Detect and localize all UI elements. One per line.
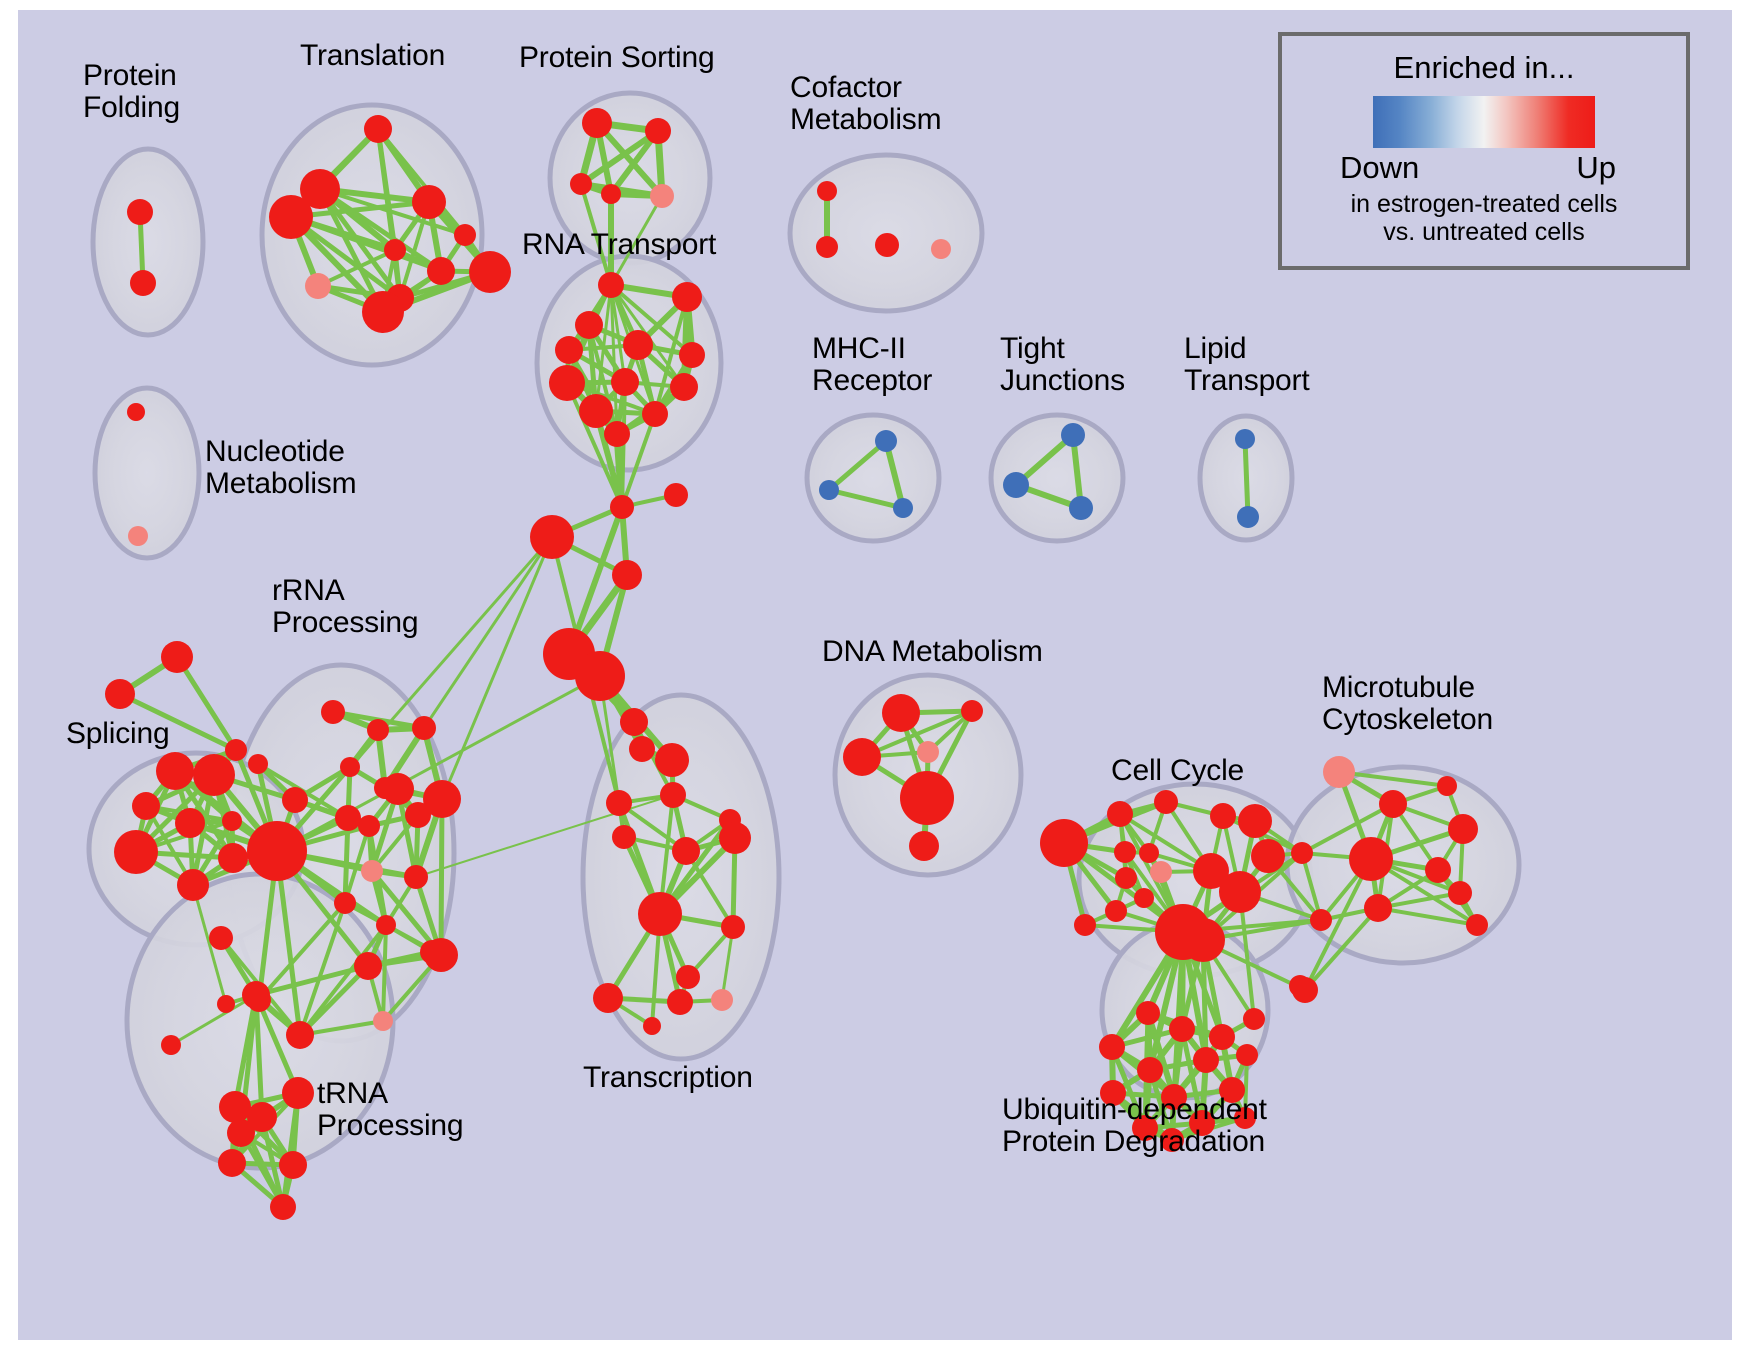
network-node[interactable] xyxy=(679,342,705,368)
cluster-label-line: Protein Sorting xyxy=(519,42,714,74)
network-node[interactable] xyxy=(193,754,235,796)
network-node[interactable] xyxy=(364,115,392,143)
network-node[interactable] xyxy=(611,368,639,396)
network-node[interactable] xyxy=(606,790,632,816)
network-node[interactable] xyxy=(719,822,751,854)
cluster-label-line: Cell Cycle xyxy=(1111,755,1244,787)
network-node[interactable] xyxy=(638,892,682,936)
network-node[interactable] xyxy=(219,1091,251,1123)
network-node[interactable] xyxy=(412,185,446,219)
cluster-label-line: tRNA xyxy=(317,1078,463,1110)
network-node[interactable] xyxy=(282,787,308,813)
network-node[interactable] xyxy=(1139,843,1159,863)
network-edge xyxy=(441,799,442,955)
cluster-label-line: Ubiquitin-dependent xyxy=(1002,1094,1267,1126)
network-node[interactable] xyxy=(382,773,414,805)
legend-subtitle-line-2: vs. untreated cells xyxy=(1282,218,1686,246)
cluster-label-ubiquitin: Ubiquitin-dependentProtein Degradation xyxy=(1002,1094,1267,1159)
network-node[interactable] xyxy=(549,365,585,401)
network-edge xyxy=(1245,439,1248,517)
cluster-label-line: Receptor xyxy=(812,365,932,397)
network-node[interactable] xyxy=(454,224,476,246)
cluster-label-line: Folding xyxy=(83,92,180,124)
network-node[interactable] xyxy=(376,915,396,935)
network-node[interactable] xyxy=(270,1194,296,1220)
network-node[interactable] xyxy=(1210,803,1236,829)
network-node[interactable] xyxy=(672,837,700,865)
cluster-ellipse-mhc-ii-receptor xyxy=(807,415,939,541)
network-node[interactable] xyxy=(358,815,380,837)
cluster-label-line: Junctions xyxy=(1000,365,1125,397)
network-node[interactable] xyxy=(1074,914,1096,936)
network-node[interactable] xyxy=(893,498,913,518)
network-node[interactable] xyxy=(1136,1001,1160,1025)
network-node[interactable] xyxy=(1114,841,1136,863)
network-node[interactable] xyxy=(1115,867,1137,889)
network-node[interactable] xyxy=(875,430,897,452)
network-node[interactable] xyxy=(1235,429,1255,449)
cluster-label-nucleotide-metab: NucleotideMetabolism xyxy=(205,436,356,501)
network-node[interactable] xyxy=(1003,472,1029,498)
network-node[interactable] xyxy=(579,394,613,428)
network-node[interactable] xyxy=(1236,1044,1258,1066)
network-node[interactable] xyxy=(105,679,135,709)
cluster-label-line: MHC-II xyxy=(812,333,932,365)
cluster-label-line: Processing xyxy=(317,1110,463,1142)
network-node[interactable] xyxy=(354,952,382,980)
network-node[interactable] xyxy=(1150,861,1172,883)
network-node[interactable] xyxy=(1237,506,1259,528)
network-node[interactable] xyxy=(1349,837,1393,881)
network-edge xyxy=(424,537,552,728)
network-node[interactable] xyxy=(1040,819,1088,867)
network-node[interactable] xyxy=(1466,914,1488,936)
network-node[interactable] xyxy=(1099,1034,1125,1060)
network-node[interactable] xyxy=(209,926,233,950)
network-node[interactable] xyxy=(882,694,920,732)
network-node[interactable] xyxy=(222,811,242,831)
network-node[interactable] xyxy=(721,915,745,939)
network-node[interactable] xyxy=(917,741,939,763)
legend-title: Enriched in... xyxy=(1282,50,1686,86)
network-node[interactable] xyxy=(575,651,625,701)
network-node[interactable] xyxy=(643,1017,661,1035)
cluster-label-cofactor-metabolism: CofactorMetabolism xyxy=(790,72,941,137)
network-node[interactable] xyxy=(645,118,671,144)
network-node[interactable] xyxy=(817,181,837,201)
cluster-label-lipid-transport: LipidTransport xyxy=(1184,333,1309,398)
network-node[interactable] xyxy=(404,865,428,889)
cluster-label-line: Microtubule xyxy=(1322,672,1493,704)
network-node[interactable] xyxy=(1181,918,1225,962)
network-node[interactable] xyxy=(127,199,153,225)
network-node[interactable] xyxy=(1069,496,1093,520)
network-node[interactable] xyxy=(247,821,307,881)
legend-color-gradient xyxy=(1373,96,1595,148)
network-node[interactable] xyxy=(1310,909,1332,931)
network-node[interactable] xyxy=(384,239,406,261)
network-node[interactable] xyxy=(362,291,404,333)
network-node[interactable] xyxy=(676,965,700,989)
cluster-label-line: Metabolism xyxy=(790,104,941,136)
network-node[interactable] xyxy=(620,708,648,736)
cluster-label-splicing: Splicing xyxy=(66,718,169,750)
network-node[interactable] xyxy=(128,526,148,546)
network-node[interactable] xyxy=(373,1011,393,1031)
cluster-label-rna-transport: RNA Transport xyxy=(522,229,716,261)
network-edge xyxy=(442,537,552,799)
network-node[interactable] xyxy=(279,1151,307,1179)
network-node[interactable] xyxy=(1105,900,1127,922)
network-node[interactable] xyxy=(575,311,603,339)
network-node[interactable] xyxy=(227,1119,255,1147)
network-node[interactable] xyxy=(1061,423,1085,447)
network-node[interactable] xyxy=(282,1077,314,1109)
legend-endpoints: Down Up xyxy=(1334,150,1634,190)
network-node[interactable] xyxy=(1379,790,1407,818)
network-node[interactable] xyxy=(161,1035,181,1055)
network-node[interactable] xyxy=(900,771,954,825)
network-node[interactable] xyxy=(629,736,655,762)
network-node[interactable] xyxy=(218,843,248,873)
network-node[interactable] xyxy=(875,233,899,257)
network-node[interactable] xyxy=(367,719,389,741)
network-node[interactable] xyxy=(1291,842,1313,864)
network-node[interactable] xyxy=(269,195,313,239)
network-node[interactable] xyxy=(570,173,592,195)
cluster-label-line: Splicing xyxy=(66,718,169,750)
network-node[interactable] xyxy=(667,989,693,1015)
network-node[interactable] xyxy=(598,272,624,298)
network-node[interactable] xyxy=(612,560,642,590)
network-node[interactable] xyxy=(334,892,356,914)
cluster-label-line: Metabolism xyxy=(205,468,356,500)
network-node[interactable] xyxy=(469,251,511,293)
network-node[interactable] xyxy=(650,184,674,208)
network-node[interactable] xyxy=(672,282,702,312)
network-node[interactable] xyxy=(127,403,145,421)
network-node[interactable] xyxy=(1251,839,1285,873)
cluster-label-rrna-processing: rRNAProcessing xyxy=(272,575,418,640)
cluster-label-line: Lipid xyxy=(1184,333,1309,365)
network-node[interactable] xyxy=(1243,1008,1265,1030)
legend-subtitle-line-1: in estrogen-treated cells xyxy=(1282,190,1686,218)
network-node[interactable] xyxy=(582,108,612,138)
network-node[interactable] xyxy=(530,515,574,559)
network-node[interactable] xyxy=(177,869,209,901)
network-node[interactable] xyxy=(1425,857,1451,883)
cluster-label-line: Protein xyxy=(83,60,180,92)
network-node[interactable] xyxy=(427,257,455,285)
network-node[interactable] xyxy=(555,336,583,364)
network-node[interactable] xyxy=(660,782,686,808)
network-node[interactable] xyxy=(670,373,698,401)
cluster-label-line: Cytoskeleton xyxy=(1322,704,1493,736)
legend-up-label: Up xyxy=(1576,150,1616,186)
network-node[interactable] xyxy=(305,273,331,299)
network-node[interactable] xyxy=(623,330,653,360)
network-node[interactable] xyxy=(604,421,630,447)
network-node[interactable] xyxy=(1364,894,1392,922)
cluster-label-line: rRNA xyxy=(272,575,418,607)
network-node[interactable] xyxy=(286,1021,314,1049)
network-node[interactable] xyxy=(1448,881,1472,905)
cluster-ellipse-protein-folding xyxy=(93,149,203,335)
network-node[interactable] xyxy=(321,700,345,724)
cluster-label-trna-processing: tRNAProcessing xyxy=(317,1078,463,1143)
network-node[interactable] xyxy=(217,995,235,1013)
cluster-label-line: Cofactor xyxy=(790,72,941,104)
cluster-label-transcription: Transcription xyxy=(583,1062,753,1094)
cluster-label-line: Protein Degradation xyxy=(1002,1126,1267,1158)
network-node[interactable] xyxy=(610,495,634,519)
cluster-label-line: Transport xyxy=(1184,365,1309,397)
network-node[interactable] xyxy=(412,716,436,740)
network-node[interactable] xyxy=(664,483,688,507)
network-node[interactable] xyxy=(242,981,270,1009)
legend-down-label: Down xyxy=(1340,150,1419,186)
network-node[interactable] xyxy=(361,860,383,882)
cluster-ellipse-cofactor-metabolism xyxy=(790,155,982,311)
network-node[interactable] xyxy=(424,938,458,972)
cluster-label-line: Processing xyxy=(272,607,418,639)
cluster-label-line: Transcription xyxy=(583,1062,753,1094)
cluster-label-dna-metabolism: DNA Metabolism xyxy=(822,636,1043,668)
network-node[interactable] xyxy=(1137,1057,1163,1083)
cluster-label-mhc-ii-receptor: MHC-IIReceptor xyxy=(812,333,932,398)
network-node[interactable] xyxy=(218,1149,246,1177)
cluster-label-tight-junctions: TightJunctions xyxy=(1000,333,1125,398)
network-node[interactable] xyxy=(1292,977,1318,1003)
network-node[interactable] xyxy=(1209,1024,1235,1050)
cluster-label-microtubule: MicrotubuleCytoskeleton xyxy=(1322,672,1493,737)
network-node[interactable] xyxy=(655,743,689,777)
network-node[interactable] xyxy=(909,831,939,861)
network-node[interactable] xyxy=(1323,756,1355,788)
network-node[interactable] xyxy=(335,805,361,831)
cluster-label-line: RNA Transport xyxy=(522,229,716,261)
network-node[interactable] xyxy=(612,825,636,849)
network-node[interactable] xyxy=(843,738,881,776)
network-node[interactable] xyxy=(156,752,194,790)
network-node[interactable] xyxy=(1154,790,1178,814)
legend-box: Enriched in... Down Up in estrogen-treat… xyxy=(1278,32,1690,270)
network-node[interactable] xyxy=(1107,801,1133,827)
network-node[interactable] xyxy=(816,236,838,258)
network-node[interactable] xyxy=(132,792,160,820)
network-node[interactable] xyxy=(1219,871,1261,913)
cluster-label-translation: Translation xyxy=(300,40,445,72)
cluster-label-line: Nucleotide xyxy=(205,436,356,468)
network-node[interactable] xyxy=(248,754,268,774)
network-node[interactable] xyxy=(961,700,983,722)
cluster-label-protein-folding: ProteinFolding xyxy=(83,60,180,125)
network-node[interactable] xyxy=(1193,1047,1219,1073)
network-node[interactable] xyxy=(711,989,733,1011)
network-node[interactable] xyxy=(819,480,839,500)
network-node[interactable] xyxy=(161,641,193,673)
network-node[interactable] xyxy=(225,739,247,761)
network-node[interactable] xyxy=(130,270,156,296)
network-node[interactable] xyxy=(1437,776,1457,796)
network-node[interactable] xyxy=(175,808,205,838)
cluster-label-protein-sorting: Protein Sorting xyxy=(519,42,714,74)
network-node[interactable] xyxy=(1134,888,1154,908)
network-node[interactable] xyxy=(1238,804,1272,838)
network-node[interactable] xyxy=(1169,1016,1195,1042)
network-node[interactable] xyxy=(1448,814,1478,844)
network-node[interactable] xyxy=(642,401,668,427)
figure-canvas: ProteinFoldingTranslationProtein Sorting… xyxy=(0,0,1750,1360)
network-node[interactable] xyxy=(601,184,621,204)
cluster-label-line: Translation xyxy=(300,40,445,72)
network-node[interactable] xyxy=(340,757,360,777)
network-node[interactable] xyxy=(593,983,623,1013)
cluster-label-line: DNA Metabolism xyxy=(822,636,1043,668)
network-node[interactable] xyxy=(114,830,158,874)
cluster-label-line: Tight xyxy=(1000,333,1125,365)
network-node[interactable] xyxy=(405,802,431,828)
network-node[interactable] xyxy=(931,239,951,259)
cluster-label-cell-cycle: Cell Cycle xyxy=(1111,755,1244,787)
